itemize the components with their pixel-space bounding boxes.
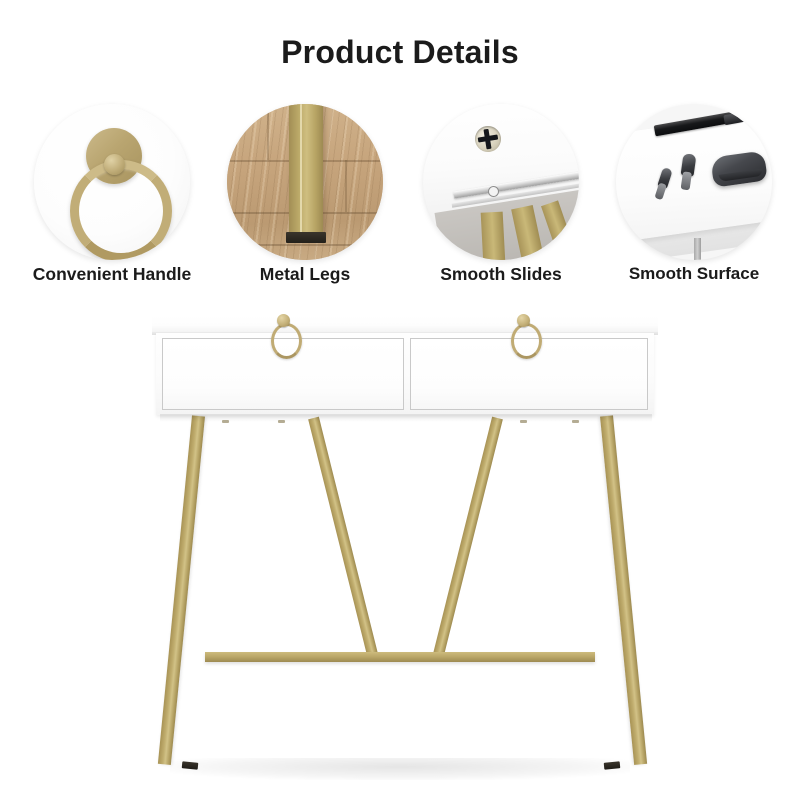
metal-leg-icon [227,104,383,260]
drawer-pull-right[interactable] [506,314,540,358]
feature-label-smooth-slides: Smooth Slides [401,264,601,285]
desk-surface-icon [616,104,772,260]
drawer-pull-left[interactable] [266,314,300,358]
brace-inner-right [433,417,503,656]
product-details-page: Product Details Convenient Handle [0,0,800,800]
feature-convenient-handle[interactable]: Convenient Handle [12,104,212,294]
product-image-console-table[interactable] [0,296,800,796]
leg-foot-pad [286,232,326,243]
feature-label-metal-legs: Metal Legs [205,264,405,285]
brace-inner-left [308,417,378,656]
pull-ring [271,323,302,359]
frame-screw [222,420,229,423]
gold-leg-under [481,212,507,260]
floor-plank-seam [267,104,269,160]
feature-smooth-slides[interactable]: Smooth Slides [401,104,601,294]
feature-highlights-row: Convenient Handle Metal Legs [0,104,800,294]
desk-leg-small [694,238,701,260]
drawer-slide-icon [423,104,579,260]
floor-plank-line [227,244,383,246]
handle-knob [104,154,125,175]
handle-ring [70,160,172,260]
feature-smooth-surface[interactable]: Smooth Surface [594,104,794,294]
ring-pull-handle-icon [34,104,190,260]
gold-leg-highlight [300,104,302,236]
gold-leg-closeup [289,104,323,236]
pull-knob [277,314,290,327]
pull-ring [511,323,542,359]
frame-screw [520,420,527,423]
page-title: Product Details [0,34,800,71]
floor-shadow [170,758,630,780]
feature-metal-legs[interactable]: Metal Legs [205,104,405,294]
floor-plank-seam [345,160,347,212]
leg-outer-right [600,415,647,765]
leg-outer-left [158,415,205,765]
tabletop [152,316,658,333]
feature-label-smooth-surface: Smooth Surface [594,264,794,284]
feature-label-convenient-handle: Convenient Handle [12,264,212,285]
pull-knob [517,314,530,327]
gold-leg-under [541,200,579,260]
frame-screw [278,420,285,423]
horizontal-stretcher-bar [205,652,595,662]
gold-leg-under [511,205,547,260]
frame-screw [572,420,579,423]
